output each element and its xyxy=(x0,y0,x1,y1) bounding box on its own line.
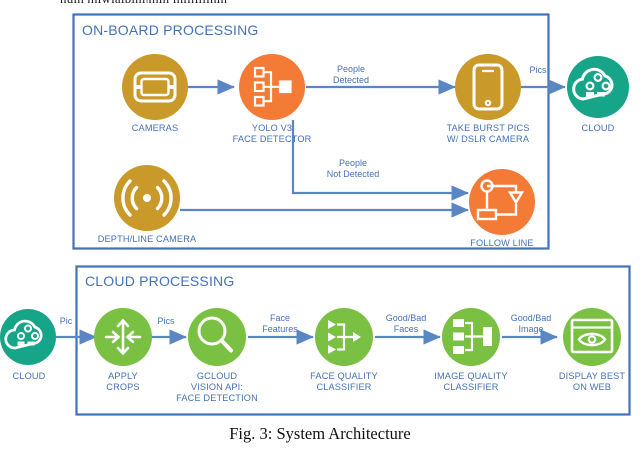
edge-label-pic: Pic xyxy=(54,316,78,327)
node-depth-line-camera[interactable] xyxy=(114,165,180,231)
figure-root: nuin miwiaipini|min inillillinin xyxy=(0,0,640,458)
group-title-on-board: ON-BOARD PROCESSING xyxy=(82,22,259,38)
node-label-cameras: CAMERAS xyxy=(105,123,205,134)
node-take-burst-pics[interactable] xyxy=(455,54,521,120)
edge-label-face-features: Face Features xyxy=(250,313,310,334)
node-label-cloud-top: CLOUD xyxy=(558,123,638,134)
node-label-depth-line-camera: DEPTH/LINE CAMERA xyxy=(82,234,212,245)
node-follow-line[interactable] xyxy=(469,169,535,235)
node-label-apply-crops: APPLY CROPS xyxy=(83,371,163,393)
node-cameras[interactable] xyxy=(122,54,188,120)
node-apply-crops[interactable] xyxy=(94,308,152,366)
node-cloud-bottom[interactable] xyxy=(0,309,56,365)
group-title-cloud-processing: CLOUD PROCESSING xyxy=(85,273,234,289)
node-label-follow-line: FOLLOW LINE xyxy=(442,238,562,249)
node-yolo-face-detector[interactable] xyxy=(239,54,305,120)
edge-label-pics-top: Pics xyxy=(522,65,554,76)
node-label-gcloud-vision: GCLOUD VISION API: FACE DETECTION xyxy=(162,371,272,404)
node-cloud-top[interactable] xyxy=(567,56,629,118)
edge-label-pics-bottom: Pics xyxy=(150,316,182,327)
edge-label-good-bad-image: Good/Bad Image xyxy=(501,313,561,334)
figure-caption: Fig. 3: System Architecture xyxy=(0,424,640,444)
edge-label-good-bad-faces: Good/Bad Faces xyxy=(375,313,437,334)
node-label-take-burst-pics: TAKE BURST PICS W/ DSLR CAMERA xyxy=(423,123,553,145)
node-display-best-on-web[interactable] xyxy=(563,308,621,366)
node-label-yolo: YOLO V3 FACE DETECTOR xyxy=(212,123,332,145)
node-label-face-quality: FACE QUALITY CLASSIFIER xyxy=(289,371,399,393)
node-label-cloud-bottom: CLOUD xyxy=(0,371,58,382)
edge-label-people-not-detected: People Not Detected xyxy=(313,158,393,179)
node-label-image-quality: IMAGE QUALITY CLASSIFIER xyxy=(416,371,526,393)
node-label-display-best: DISPLAY BEST ON WEB xyxy=(541,371,640,393)
node-image-quality-classifier[interactable] xyxy=(442,308,500,366)
node-face-quality-classifier[interactable] xyxy=(315,308,373,366)
node-gcloud-vision-api[interactable] xyxy=(188,308,246,366)
edge-label-people-detected: People Detected xyxy=(316,64,386,85)
